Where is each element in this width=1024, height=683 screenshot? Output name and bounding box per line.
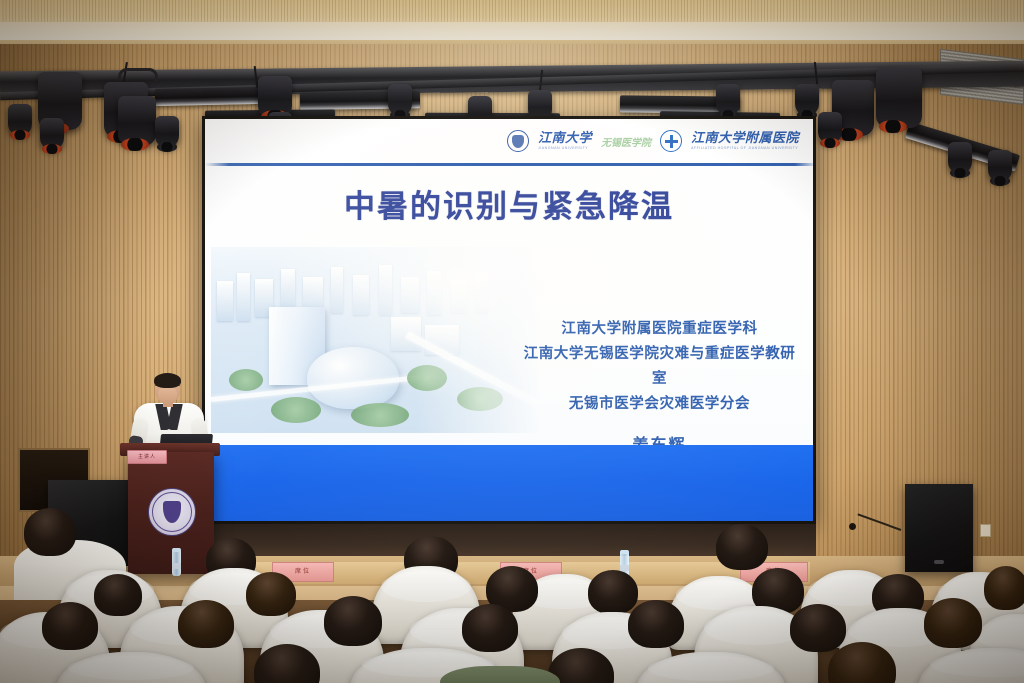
audience-head bbox=[246, 572, 296, 616]
audience-head bbox=[588, 570, 638, 614]
presentation-slide: 江南大学 JIANGNAN UNIVERSITY 无锡医学院 江南大学附属医院 … bbox=[205, 119, 813, 521]
water-bottle bbox=[172, 548, 181, 576]
audience-head bbox=[628, 600, 684, 648]
slide-logo-group: 江南大学 JIANGNAN UNIVERSITY 无锡医学院 江南大学附属医院 … bbox=[507, 124, 799, 158]
speaker-hair bbox=[154, 373, 181, 388]
lecture-hall-photo: 江南大学 JIANGNAN UNIVERSITY 无锡医学院 江南大学附属医院 … bbox=[0, 0, 1024, 683]
university-seal-icon bbox=[507, 130, 529, 152]
audience-head bbox=[94, 574, 142, 616]
stage-spotlight bbox=[118, 96, 156, 146]
audience-head bbox=[924, 598, 982, 648]
audience-head bbox=[24, 508, 76, 556]
audience-head bbox=[462, 604, 518, 652]
audience-head bbox=[324, 596, 382, 646]
audience-head bbox=[790, 604, 846, 652]
podium-nameplate: 主讲人 bbox=[127, 450, 167, 464]
audience-head bbox=[42, 602, 98, 650]
image-haze bbox=[211, 247, 541, 433]
stage-spotlight bbox=[876, 68, 922, 128]
wall-outlet bbox=[980, 524, 991, 537]
stage-spotlight bbox=[818, 112, 842, 144]
affiliation-line: 无锡市医学会灾难医学分会 bbox=[520, 392, 799, 417]
microphone-icon bbox=[849, 523, 856, 530]
stage-spotlight bbox=[8, 104, 32, 136]
speaker-face bbox=[158, 386, 177, 403]
stage-spotlight bbox=[948, 142, 972, 174]
slide-divider bbox=[205, 163, 813, 166]
hospital-name-cn: 江南大学附属医院 bbox=[691, 132, 799, 145]
audience-shoulders bbox=[440, 666, 560, 683]
university-name-en: JIANGNAN UNIVERSITY bbox=[538, 147, 592, 151]
led-light-bar bbox=[155, 87, 260, 106]
affiliation-line: 江南大学附属医院重症医学科 bbox=[520, 317, 799, 342]
audience-head bbox=[716, 524, 768, 570]
slide-title: 中暑的识别与紧急降温 bbox=[205, 181, 813, 226]
slide-footer-band bbox=[205, 445, 813, 521]
stage-spotlight bbox=[40, 118, 64, 150]
hospital-name-en: AFFILIATED HOSPITAL OF JIANGNAN UNIVERSI… bbox=[691, 147, 799, 151]
stage-spotlight bbox=[795, 84, 819, 116]
affiliation-line: 江南大学无锡医学院灾难与重症医学教研室 bbox=[520, 342, 799, 392]
stage-spotlight bbox=[988, 150, 1012, 182]
hospital-aerial-image bbox=[211, 247, 541, 433]
loudspeaker-cabinet-right bbox=[905, 484, 973, 572]
university-logo-text: 江南大学 JIANGNAN UNIVERSITY bbox=[538, 132, 592, 151]
slide-affiliations: 江南大学附属医院重症医学科 江南大学无锡医学院灾难与重症医学教研室 无锡市医学会… bbox=[520, 317, 799, 455]
stage-spotlight bbox=[716, 84, 740, 116]
light-yoke bbox=[118, 68, 158, 81]
stage-spotlight bbox=[155, 116, 179, 148]
hospital-logo-text: 江南大学附属医院 AFFILIATED HOSPITAL OF JIANGNAN… bbox=[691, 132, 799, 151]
audience-head bbox=[178, 600, 234, 648]
audience-head bbox=[984, 566, 1024, 610]
stage-spotlight bbox=[388, 84, 412, 116]
hospital-emblem-icon bbox=[148, 488, 196, 536]
projection-screen[interactable]: 江南大学 JIANGNAN UNIVERSITY 无锡医学院 江南大学附属医院 … bbox=[202, 116, 816, 524]
speaker-badge bbox=[934, 560, 944, 564]
medical-college-name: 无锡医学院 bbox=[601, 134, 651, 149]
university-name-cn: 江南大学 bbox=[538, 132, 592, 145]
hospital-cross-icon bbox=[660, 130, 682, 152]
